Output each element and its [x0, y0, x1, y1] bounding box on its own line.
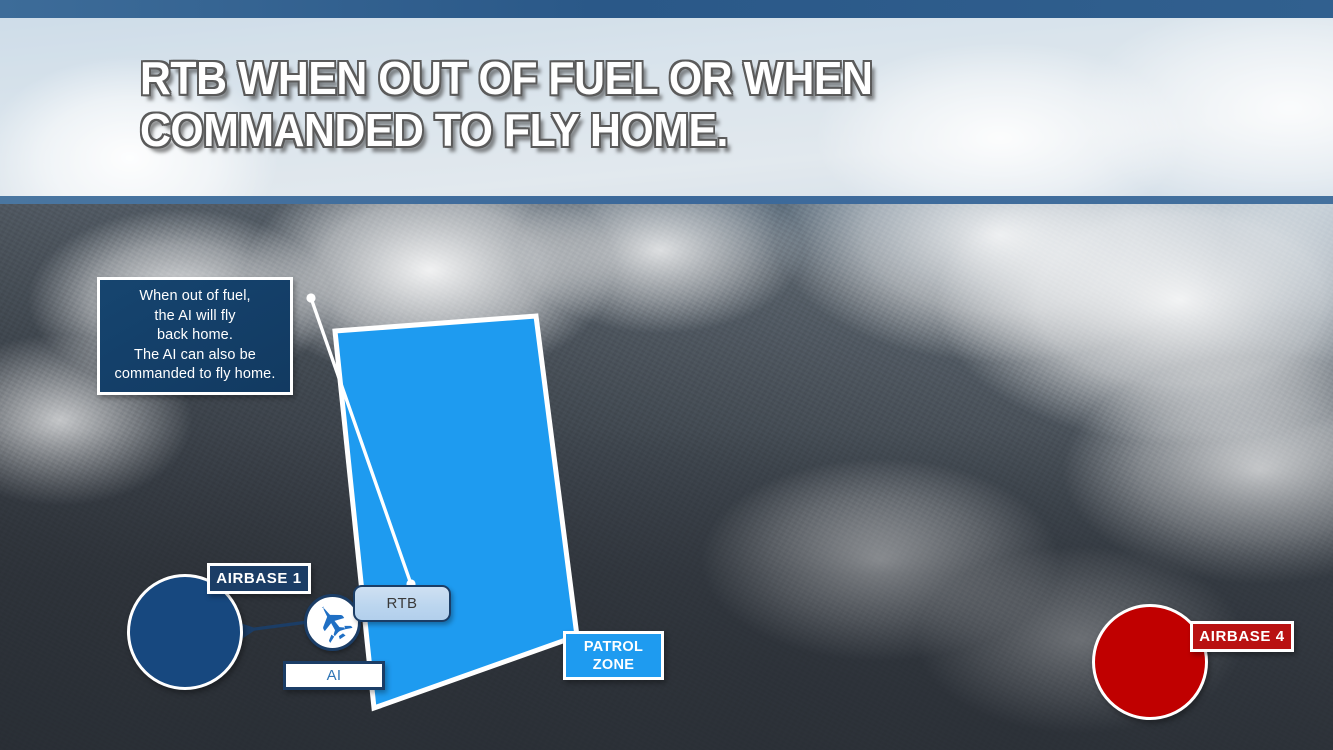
- callout-text: When out of fuel, the AI will fly back h…: [115, 287, 276, 385]
- callout-box: When out of fuel, the AI will fly back h…: [97, 277, 293, 395]
- header-bottom-strip: [0, 196, 1333, 204]
- ai-unit-label[interactable]: AI: [283, 661, 385, 690]
- fighter-jet-glyph: [311, 601, 355, 645]
- rtb-action-box[interactable]: RTB: [353, 585, 451, 622]
- airbase-1-label[interactable]: AIRBASE 1: [207, 563, 311, 594]
- patrol-zone-label[interactable]: PATROL ZONE: [563, 631, 664, 680]
- airbase-4-label[interactable]: AIRBASE 4: [1190, 621, 1294, 652]
- slide-canvas: RTB WHEN OUT OF FUEL OR WHEN COMMANDED T…: [0, 0, 1333, 750]
- page-title: RTB WHEN OUT OF FUEL OR WHEN COMMANDED T…: [140, 52, 1144, 156]
- header-top-strip: [0, 0, 1333, 18]
